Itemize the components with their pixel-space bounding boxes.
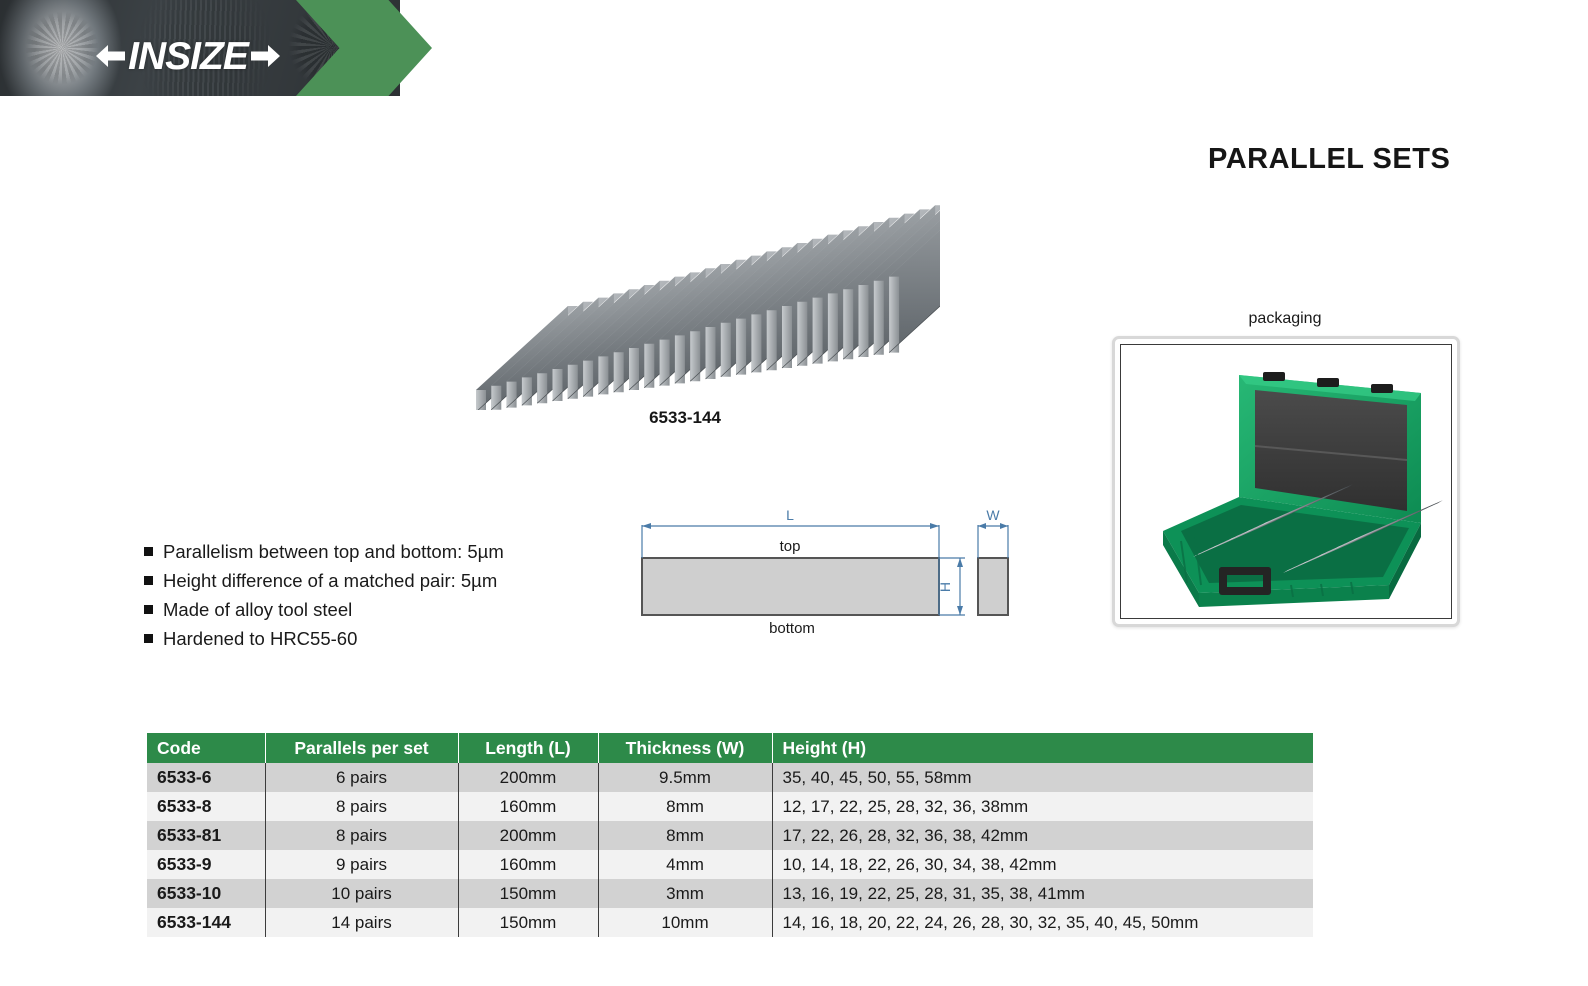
cell-parallels: 14 pairs [265, 908, 458, 937]
cell-thickness: 8mm [598, 821, 772, 850]
cell-height: 35, 40, 45, 50, 55, 58mm [772, 763, 1313, 792]
column-header-parallels: Parallels per set [265, 733, 458, 763]
cell-height: 12, 17, 22, 25, 28, 32, 36, 38mm [772, 792, 1313, 821]
spec-item: Height difference of a matched pair: 5µm [144, 569, 614, 592]
cell-height: 13, 16, 19, 22, 25, 28, 31, 35, 38, 41mm [772, 879, 1313, 908]
cell-length: 150mm [458, 879, 598, 908]
diagram-side-view-body [978, 558, 1008, 615]
cell-code: 6533-81 [147, 821, 265, 850]
cell-thickness: 4mm [598, 850, 772, 879]
spec-item: Parallelism between top and bottom: 5µm [144, 540, 614, 563]
cell-length: 200mm [458, 821, 598, 850]
packaging-photo [1120, 344, 1452, 619]
parallel-bar-face [828, 293, 838, 361]
spec-item-label: Hardened to HRC55-60 [163, 627, 357, 650]
table-row: 6533-88 pairs160mm8mm12, 17, 22, 25, 28,… [147, 792, 1313, 821]
cell-height: 17, 22, 26, 28, 32, 36, 38, 42mm [772, 821, 1313, 850]
spec-item-label: Parallelism between top and bottom: 5µm [163, 540, 504, 563]
cell-length: 160mm [458, 850, 598, 879]
parallel-bar-face [797, 302, 807, 366]
square-bullet-icon [144, 605, 153, 614]
parallel-bar-face [583, 361, 593, 397]
cell-length: 200mm [458, 763, 598, 792]
cell-thickness: 8mm [598, 792, 772, 821]
latch-icon [1317, 378, 1339, 387]
product-specification-table: Code Parallels per set Length (L) Thickn… [147, 733, 1313, 937]
insize-logo-text: INSIZE [128, 37, 248, 76]
width-arrow-right-icon [1000, 523, 1008, 529]
spec-item-label: Height difference of a matched pair: 5µm [163, 569, 497, 592]
case-lid [1239, 372, 1421, 523]
parallel-bar-face [889, 277, 899, 353]
cell-length: 150mm [458, 908, 598, 937]
packaging-image-frame [1112, 336, 1460, 627]
latch-icon [1263, 372, 1285, 381]
height-arrow-up-icon [957, 558, 963, 567]
cell-length: 160mm [458, 792, 598, 821]
catalog-page: INSIZE PARALLEL SETS [0, 0, 1588, 986]
dimension-diagram: L W H top bottom [620, 495, 1020, 640]
parallel-bar-face [660, 340, 670, 386]
spec-item-label: Made of alloy tool steel [163, 598, 352, 621]
page-title: PARALLEL SETS [1208, 143, 1450, 176]
latch-icon [1371, 384, 1393, 393]
cell-thickness: 9.5mm [598, 763, 772, 792]
spec-item: Made of alloy tool steel [144, 598, 614, 621]
height-label: H [937, 582, 953, 592]
parallel-bar-face [507, 382, 517, 408]
parallel-bar-face [874, 281, 884, 355]
parallel-bar-face [614, 352, 624, 392]
parallel-bar-face [751, 314, 761, 372]
parallel-bar-face [491, 386, 501, 410]
cell-thickness: 10mm [598, 908, 772, 937]
length-label: L [786, 507, 794, 523]
table-row: 6533-818 pairs200mm8mm17, 22, 26, 28, 32… [147, 821, 1313, 850]
cell-thickness: 3mm [598, 879, 772, 908]
cell-code: 6533-9 [147, 850, 265, 879]
cell-code: 6533-144 [147, 908, 265, 937]
parallel-bar-face [675, 335, 685, 383]
parallel-bar-face [813, 298, 823, 364]
width-arrow-left-icon [978, 523, 986, 529]
parallel-bar-face [736, 319, 746, 375]
cell-code: 6533-10 [147, 879, 265, 908]
parallel-bar-face [843, 289, 853, 359]
product-caption: 6533-144 [430, 408, 940, 428]
parallel-bar-face [859, 285, 869, 357]
product-photo-parallel-sets [430, 160, 940, 410]
column-header-thickness: Thickness (W) [598, 733, 772, 763]
cell-parallels: 10 pairs [265, 879, 458, 908]
specifications-list: Parallelism between top and bottom: 5µm … [144, 540, 614, 657]
cell-parallels: 8 pairs [265, 792, 458, 821]
cell-code: 6533-6 [147, 763, 265, 792]
table-row: 6533-66 pairs200mm9.5mm35, 40, 45, 50, 5… [147, 763, 1313, 792]
arrow-right-icon [248, 39, 282, 73]
parallel-bar-face [598, 356, 608, 394]
parallel-bar-face [629, 348, 639, 390]
square-bullet-icon [144, 634, 153, 643]
parallel-bar-face [782, 306, 792, 368]
diagram-front-view-body [642, 558, 939, 615]
column-header-code: Code [147, 733, 265, 763]
column-header-length: Length (L) [458, 733, 598, 763]
parallel-bar-face [767, 310, 777, 370]
parallel-bar-face [644, 344, 654, 388]
cell-code: 6533-8 [147, 792, 265, 821]
table-row: 6533-99 pairs160mm4mm10, 14, 18, 22, 26,… [147, 850, 1313, 879]
table-row: 6533-1010 pairs150mm3mm13, 16, 19, 22, 2… [147, 879, 1313, 908]
square-bullet-icon [144, 576, 153, 585]
length-arrow-right-icon [930, 523, 939, 529]
cell-parallels: 6 pairs [265, 763, 458, 792]
width-label: W [986, 507, 1000, 523]
cell-height: 10, 14, 18, 22, 26, 30, 34, 38, 42mm [772, 850, 1313, 879]
square-bullet-icon [144, 547, 153, 556]
height-arrow-down-icon [957, 606, 963, 615]
top-face-label: top [780, 538, 801, 555]
cell-height: 14, 16, 18, 20, 22, 24, 26, 28, 30, 32, … [772, 908, 1313, 937]
arrow-left-icon [94, 39, 128, 73]
length-arrow-left-icon [642, 523, 651, 529]
cell-parallels: 8 pairs [265, 821, 458, 850]
column-header-height: Height (H) [772, 733, 1313, 763]
insize-logo: INSIZE [93, 33, 283, 79]
spec-item: Hardened to HRC55-60 [144, 627, 614, 650]
bottom-face-label: bottom [769, 620, 815, 637]
packaging-label: packaging [1110, 310, 1460, 328]
table-header-row: Code Parallels per set Length (L) Thickn… [147, 733, 1313, 763]
table-row: 6533-14414 pairs150mm10mm14, 16, 18, 20,… [147, 908, 1313, 937]
page-header-banner: INSIZE [0, 0, 1588, 96]
parallel-bar-face [568, 365, 578, 399]
cell-parallels: 9 pairs [265, 850, 458, 879]
width-dimension-line [978, 525, 1008, 558]
